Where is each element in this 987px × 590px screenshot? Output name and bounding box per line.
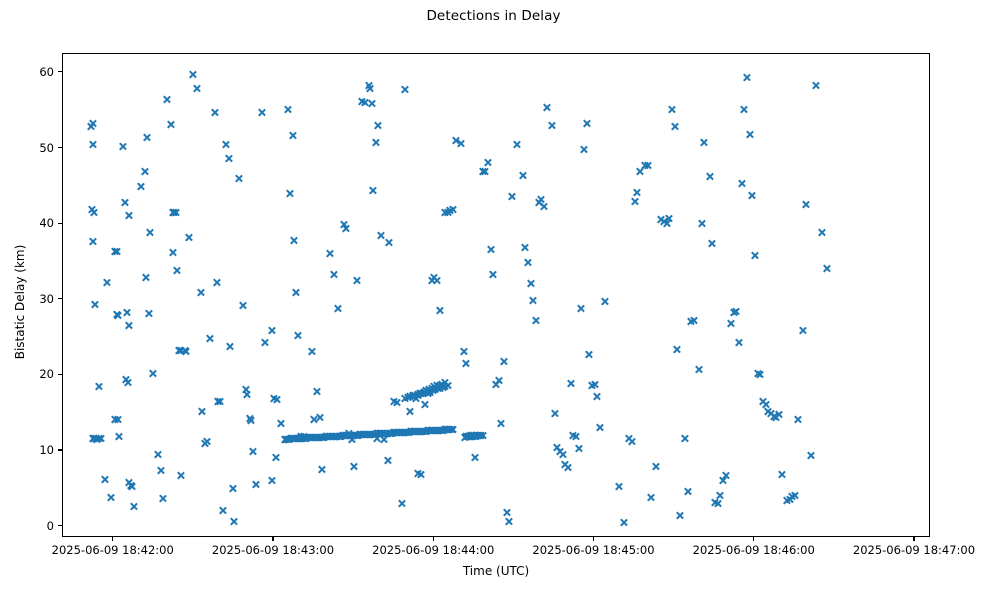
data-point	[272, 395, 281, 404]
data-point	[321, 432, 330, 441]
data-point	[437, 426, 446, 435]
data-point	[412, 427, 421, 436]
data-point	[239, 301, 248, 310]
data-point	[400, 428, 409, 437]
data-point	[88, 119, 97, 128]
data-point	[415, 389, 424, 398]
data-point	[673, 345, 682, 354]
data-point	[341, 431, 350, 440]
data-point	[334, 432, 343, 441]
data-point	[408, 391, 417, 400]
data-point	[176, 471, 185, 480]
data-point	[100, 475, 109, 484]
y-axis-tick	[58, 525, 62, 526]
data-point	[595, 423, 604, 432]
data-point	[339, 220, 348, 229]
data-point	[365, 430, 374, 439]
data-point	[408, 392, 417, 401]
data-point	[248, 447, 257, 456]
data-point	[462, 432, 471, 441]
data-point	[434, 426, 443, 435]
data-point	[750, 251, 759, 260]
data-point	[299, 434, 308, 443]
data-point	[291, 288, 300, 297]
data-point	[681, 434, 690, 443]
data-point	[243, 390, 252, 399]
data-point	[476, 431, 485, 440]
data-point	[376, 231, 385, 240]
data-point	[127, 482, 136, 491]
data-point	[170, 208, 179, 217]
data-point	[469, 431, 478, 440]
y-axis-tick-label: 10	[0, 443, 54, 457]
data-point	[390, 397, 399, 406]
data-point	[430, 273, 439, 282]
data-point	[563, 463, 572, 472]
data-point	[372, 434, 381, 443]
data-point	[290, 236, 299, 245]
data-point	[168, 248, 177, 257]
data-point	[368, 430, 377, 439]
data-point	[785, 495, 794, 504]
data-point	[224, 154, 233, 163]
data-point	[424, 385, 433, 394]
data-point	[177, 346, 186, 355]
data-point	[96, 434, 105, 443]
data-point	[405, 392, 414, 401]
data-point	[297, 434, 306, 443]
data-point	[558, 450, 567, 459]
data-point	[430, 426, 439, 435]
data-point	[577, 304, 586, 313]
data-point	[705, 172, 714, 181]
data-point	[348, 431, 357, 440]
data-point	[91, 434, 100, 443]
data-point	[579, 145, 588, 154]
data-point	[241, 385, 250, 394]
data-point	[306, 433, 315, 442]
data-point	[196, 288, 205, 297]
data-point	[456, 139, 465, 148]
figure-canvas: Detections in Delay 01020304050602025-06…	[0, 0, 987, 590]
data-point	[360, 98, 369, 107]
data-point	[627, 437, 636, 446]
data-point	[729, 308, 738, 317]
data-point	[790, 491, 799, 500]
data-point	[307, 433, 316, 442]
data-point	[153, 450, 162, 459]
data-point	[383, 456, 392, 465]
data-point	[308, 433, 317, 442]
data-point	[440, 208, 449, 217]
data-point	[390, 428, 399, 437]
data-point	[303, 433, 312, 442]
data-point	[418, 389, 427, 398]
data-point	[430, 382, 439, 391]
data-point	[359, 430, 368, 439]
data-point	[424, 426, 433, 435]
data-point	[427, 426, 436, 435]
data-point	[368, 186, 377, 195]
data-point	[318, 433, 327, 442]
data-point	[225, 342, 234, 351]
data-point	[120, 198, 129, 207]
data-point	[467, 432, 476, 441]
data-point	[483, 158, 492, 167]
data-point	[114, 311, 123, 320]
data-point	[464, 432, 473, 441]
data-point	[491, 380, 500, 389]
data-point	[761, 400, 770, 409]
x-axis-tick	[272, 537, 273, 541]
data-point	[416, 389, 425, 398]
plot-area	[62, 53, 930, 537]
data-point	[294, 331, 303, 340]
data-point	[555, 447, 564, 456]
data-point	[788, 492, 797, 501]
data-point	[288, 131, 297, 140]
data-point	[777, 470, 786, 479]
data-point	[659, 217, 668, 226]
data-point	[646, 493, 655, 502]
data-point	[633, 188, 642, 197]
data-point	[472, 431, 481, 440]
data-point	[758, 397, 767, 406]
data-point	[518, 171, 527, 180]
data-point	[726, 319, 735, 328]
data-point	[694, 365, 703, 374]
data-point	[537, 195, 546, 204]
data-point	[172, 266, 181, 275]
data-point	[737, 179, 746, 188]
data-point	[657, 215, 666, 224]
data-point	[463, 432, 472, 441]
data-point	[294, 434, 303, 443]
data-point	[156, 466, 165, 475]
y-axis-tick	[58, 223, 62, 224]
data-point	[426, 388, 435, 397]
data-point	[409, 427, 418, 436]
data-point	[402, 428, 411, 437]
data-point	[451, 136, 460, 145]
data-point	[280, 435, 289, 444]
data-point	[107, 493, 116, 502]
data-point	[287, 434, 296, 443]
data-point	[148, 369, 157, 378]
data-point	[88, 237, 97, 246]
data-point	[362, 430, 371, 439]
data-point	[601, 297, 610, 306]
data-point	[386, 429, 395, 438]
data-point	[111, 247, 120, 256]
data-point	[283, 435, 292, 444]
data-point	[367, 99, 376, 108]
data-point	[88, 434, 97, 443]
y-axis-tick-label: 60	[0, 65, 54, 79]
data-point	[398, 499, 407, 508]
data-point	[369, 430, 378, 439]
data-point	[574, 444, 583, 453]
data-point	[375, 429, 384, 438]
data-point	[774, 410, 783, 419]
x-axis-tick	[753, 537, 754, 541]
data-point	[413, 390, 422, 399]
data-point	[635, 167, 644, 176]
data-point	[112, 247, 121, 256]
data-point	[144, 309, 153, 318]
data-point	[422, 427, 431, 436]
data-point	[366, 84, 375, 93]
data-point	[267, 326, 276, 335]
data-point	[355, 430, 364, 439]
data-point	[245, 414, 254, 423]
data-point	[286, 189, 295, 198]
y-axis-tick	[58, 449, 62, 450]
data-point	[111, 415, 120, 424]
data-point	[427, 276, 436, 285]
data-point	[542, 103, 551, 112]
x-axis-tick	[913, 537, 914, 541]
data-point	[405, 428, 414, 437]
data-point	[94, 434, 103, 443]
data-point	[296, 432, 305, 441]
data-point	[721, 471, 730, 480]
data-point	[392, 428, 401, 437]
data-point	[464, 432, 473, 441]
data-point	[534, 198, 543, 207]
data-point	[315, 413, 324, 422]
data-point	[470, 453, 479, 462]
data-point	[316, 433, 325, 442]
data-point	[373, 429, 382, 438]
data-point	[219, 506, 228, 515]
data-point	[376, 429, 385, 438]
data-point	[433, 384, 442, 393]
data-point	[342, 224, 351, 233]
data-point	[213, 397, 222, 406]
data-point	[494, 376, 503, 385]
data-point	[410, 427, 419, 436]
data-point	[304, 433, 313, 442]
data-point	[312, 387, 321, 396]
data-point	[301, 434, 310, 443]
data-point	[331, 432, 340, 441]
data-point	[87, 205, 96, 214]
data-point	[468, 431, 477, 440]
data-point	[793, 415, 802, 424]
x-axis-label: Time (UTC)	[62, 564, 930, 578]
data-point	[432, 381, 441, 390]
data-point	[478, 167, 487, 176]
data-point	[766, 409, 775, 418]
y-axis-tick	[58, 147, 62, 148]
data-point	[247, 416, 256, 425]
y-axis-tick	[58, 298, 62, 299]
data-point	[383, 429, 392, 438]
data-point	[499, 357, 508, 366]
data-point	[411, 394, 420, 403]
data-point	[466, 432, 475, 441]
data-point	[439, 426, 448, 435]
data-point	[801, 200, 810, 209]
data-point	[740, 105, 749, 114]
data-point	[569, 431, 578, 440]
data-point	[299, 432, 308, 441]
data-point	[414, 391, 423, 400]
data-point	[486, 245, 495, 254]
data-point	[459, 347, 468, 356]
data-point	[478, 431, 487, 440]
data-point	[314, 433, 323, 442]
data-point	[590, 380, 599, 389]
data-point	[683, 487, 692, 496]
data-point	[718, 476, 727, 485]
data-point	[417, 427, 426, 436]
data-point	[399, 428, 408, 437]
data-point	[197, 407, 206, 416]
data-point	[124, 478, 133, 487]
data-point	[428, 386, 437, 395]
data-point	[388, 429, 397, 438]
data-point	[389, 428, 398, 437]
data-point	[395, 428, 404, 437]
data-point	[361, 430, 370, 439]
data-point	[384, 238, 393, 247]
y-axis-label: Bistatic Delay (km)	[13, 60, 27, 544]
data-point	[470, 432, 479, 441]
data-point	[175, 346, 184, 355]
data-point	[93, 435, 102, 444]
y-axis-tick-label: 50	[0, 141, 54, 155]
data-point	[364, 81, 373, 90]
data-point	[475, 431, 484, 440]
data-point	[667, 105, 676, 114]
data-point	[419, 388, 428, 397]
data-point	[251, 480, 260, 489]
x-axis-tick	[112, 537, 113, 541]
data-point	[221, 140, 230, 149]
data-point	[307, 347, 316, 356]
data-point	[143, 133, 152, 142]
data-point	[641, 161, 650, 170]
y-axis-tick	[58, 71, 62, 72]
data-point	[293, 434, 302, 443]
data-point	[416, 470, 425, 479]
data-point	[431, 426, 440, 435]
data-point	[630, 197, 639, 206]
data-point	[317, 433, 326, 442]
data-point	[441, 382, 450, 391]
data-point	[675, 511, 684, 520]
data-point	[460, 433, 469, 442]
data-point	[561, 460, 570, 469]
data-point	[123, 308, 132, 317]
data-point	[566, 379, 575, 388]
data-point	[440, 425, 449, 434]
data-point	[296, 434, 305, 443]
data-point	[436, 426, 445, 435]
data-point	[713, 499, 722, 508]
data-point	[403, 428, 412, 437]
data-point	[471, 432, 480, 441]
data-point	[529, 296, 538, 305]
data-point	[742, 73, 751, 82]
data-point	[342, 431, 351, 440]
data-point	[662, 219, 671, 228]
data-point	[121, 375, 130, 384]
data-point	[357, 430, 366, 439]
data-point	[699, 138, 708, 147]
data-point	[448, 425, 457, 434]
data-point	[507, 192, 516, 201]
data-point	[400, 394, 409, 403]
data-point	[553, 443, 562, 452]
data-point	[212, 278, 221, 287]
data-point	[328, 432, 337, 441]
data-point	[354, 431, 363, 440]
data-point	[756, 370, 765, 379]
data-point	[228, 484, 237, 493]
data-point	[168, 208, 177, 217]
data-point	[181, 347, 190, 356]
x-axis-tick	[433, 537, 434, 541]
data-point	[782, 496, 791, 505]
data-point	[344, 429, 353, 438]
data-point	[91, 300, 100, 309]
data-point	[382, 429, 391, 438]
data-point	[426, 386, 435, 395]
data-point	[323, 432, 332, 441]
data-point	[406, 407, 415, 416]
data-point	[420, 388, 429, 397]
data-point	[330, 432, 339, 441]
data-point	[379, 429, 388, 438]
data-point	[124, 321, 133, 330]
data-point	[448, 205, 457, 214]
data-point	[426, 426, 435, 435]
data-point	[332, 432, 341, 441]
data-point	[436, 384, 445, 393]
data-point	[344, 431, 353, 440]
data-point	[619, 518, 628, 527]
data-point	[340, 431, 349, 440]
data-point	[772, 413, 781, 422]
data-point	[689, 316, 698, 325]
data-point	[764, 407, 773, 416]
data-point	[446, 206, 455, 215]
data-point	[670, 122, 679, 131]
data-point	[126, 481, 135, 490]
data-point	[192, 84, 201, 93]
data-point	[371, 430, 380, 439]
data-point	[420, 427, 429, 436]
data-point	[350, 462, 359, 471]
data-point	[407, 427, 416, 436]
data-point	[327, 432, 336, 441]
data-point	[531, 316, 540, 325]
data-point	[769, 412, 778, 421]
data-point	[521, 243, 530, 252]
data-point	[429, 426, 438, 435]
x-axis-tick-label: 2025-06-09 18:47:00	[819, 543, 987, 557]
data-point	[423, 387, 432, 396]
data-point	[211, 108, 220, 117]
data-point	[112, 310, 121, 319]
data-point	[163, 95, 172, 104]
data-point	[366, 430, 375, 439]
data-point	[379, 435, 388, 444]
data-point	[547, 121, 556, 130]
